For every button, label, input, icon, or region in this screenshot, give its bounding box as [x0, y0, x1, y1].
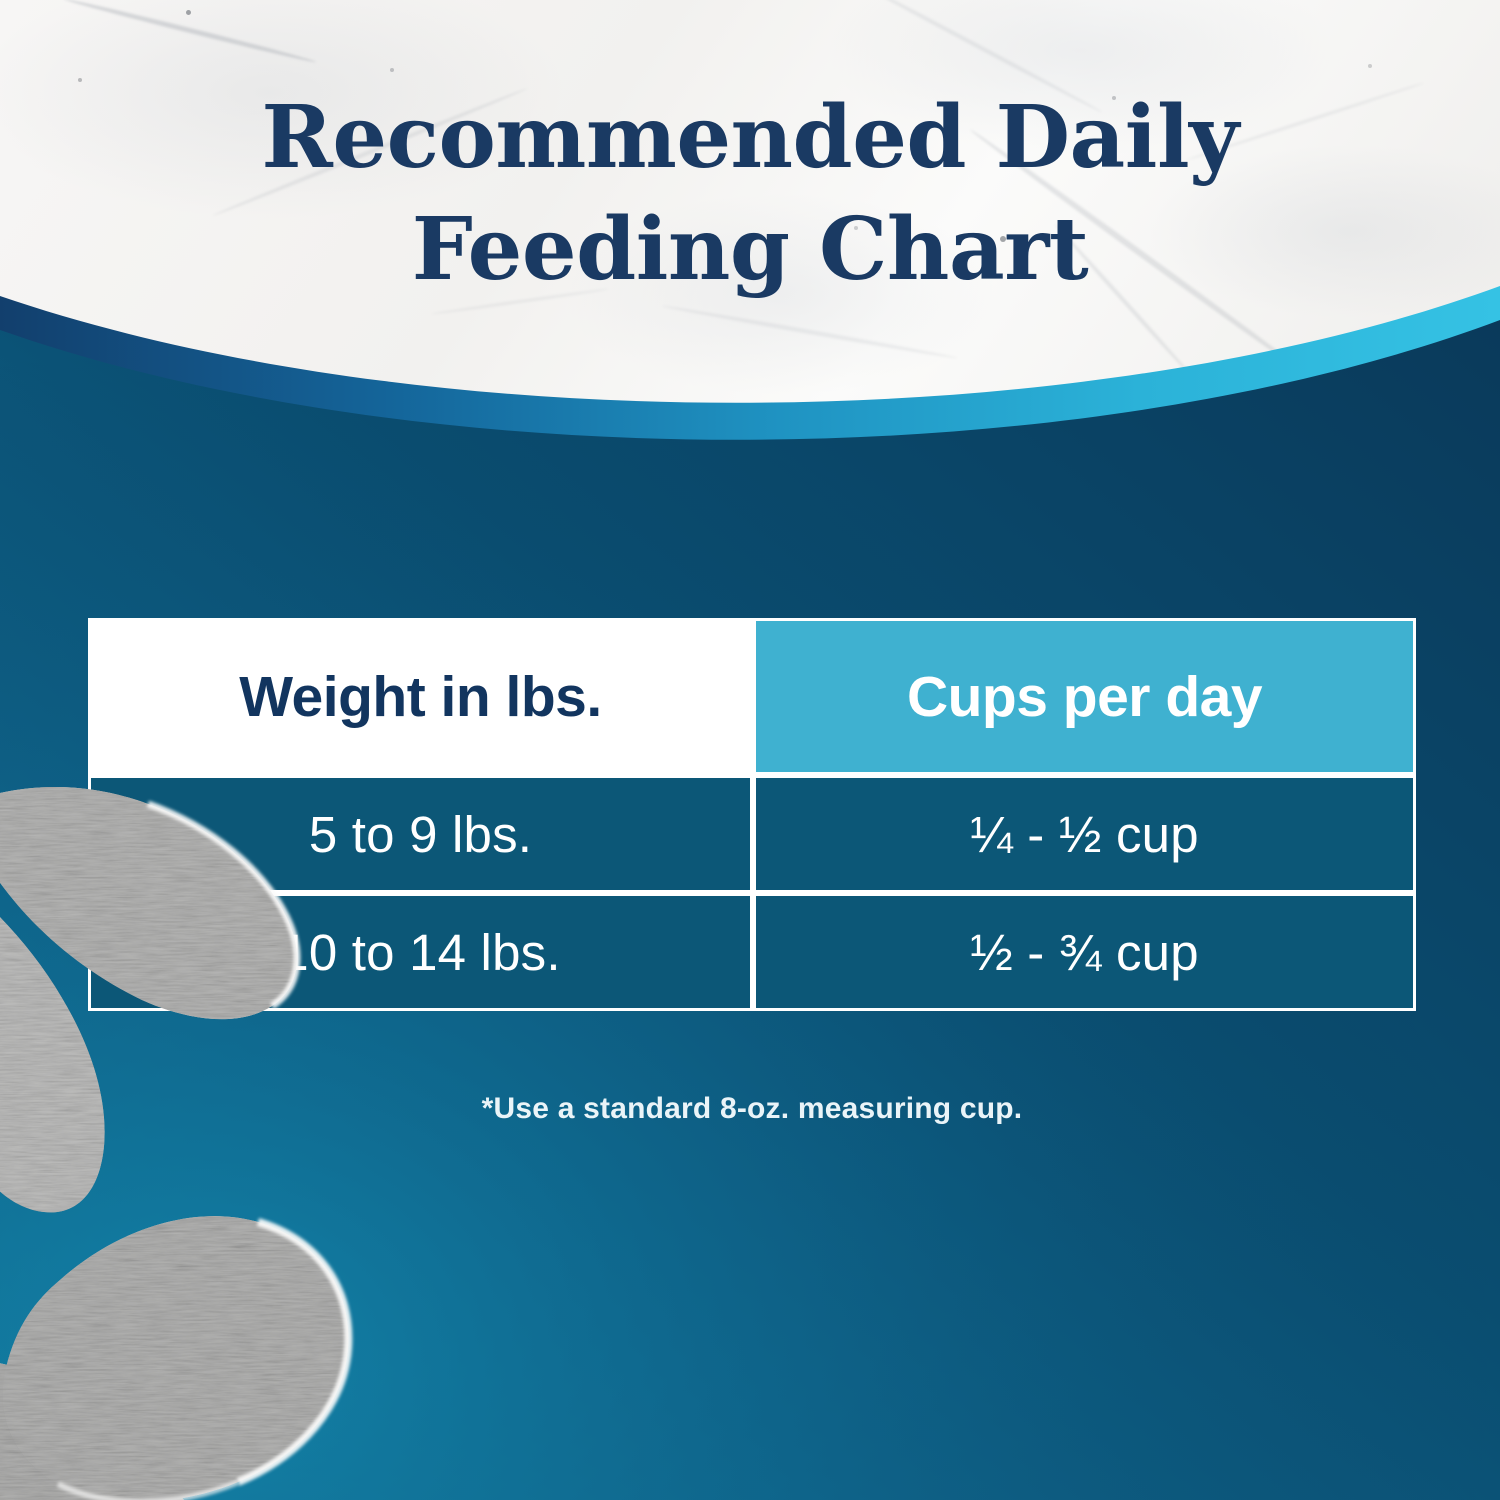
- cell-cups-row-2: ½ - ¾ cup: [753, 893, 1416, 1011]
- page-title-line-2: Feeding Chart: [0, 194, 1500, 306]
- page-title-line-1: Recommended Daily: [0, 82, 1500, 194]
- feeding-table: Weight in lbs. Cups per day 5 to 9 lbs. …: [88, 618, 1416, 1011]
- table-row: 10 to 14 lbs. ½ - ¾ cup: [88, 893, 1416, 1011]
- table-header-row: Weight in lbs. Cups per day: [88, 618, 1416, 775]
- cell-cups-row-1: ¼ - ½ cup: [753, 775, 1416, 893]
- page-title: Recommended Daily Feeding Chart: [0, 82, 1500, 306]
- column-header-weight: Weight in lbs.: [88, 618, 753, 775]
- footnote-measuring-cup: *Use a standard 8-oz. measuring cup.: [88, 1092, 1416, 1126]
- table-row: 5 to 9 lbs. ¼ - ½ cup: [88, 775, 1416, 893]
- feeding-chart-page: Recommended Daily Feeding Chart: [0, 0, 1500, 1500]
- column-header-cups: Cups per day: [753, 618, 1416, 775]
- cell-weight-row-1: 5 to 9 lbs.: [88, 775, 753, 893]
- cell-weight-row-2: 10 to 14 lbs.: [88, 893, 753, 1011]
